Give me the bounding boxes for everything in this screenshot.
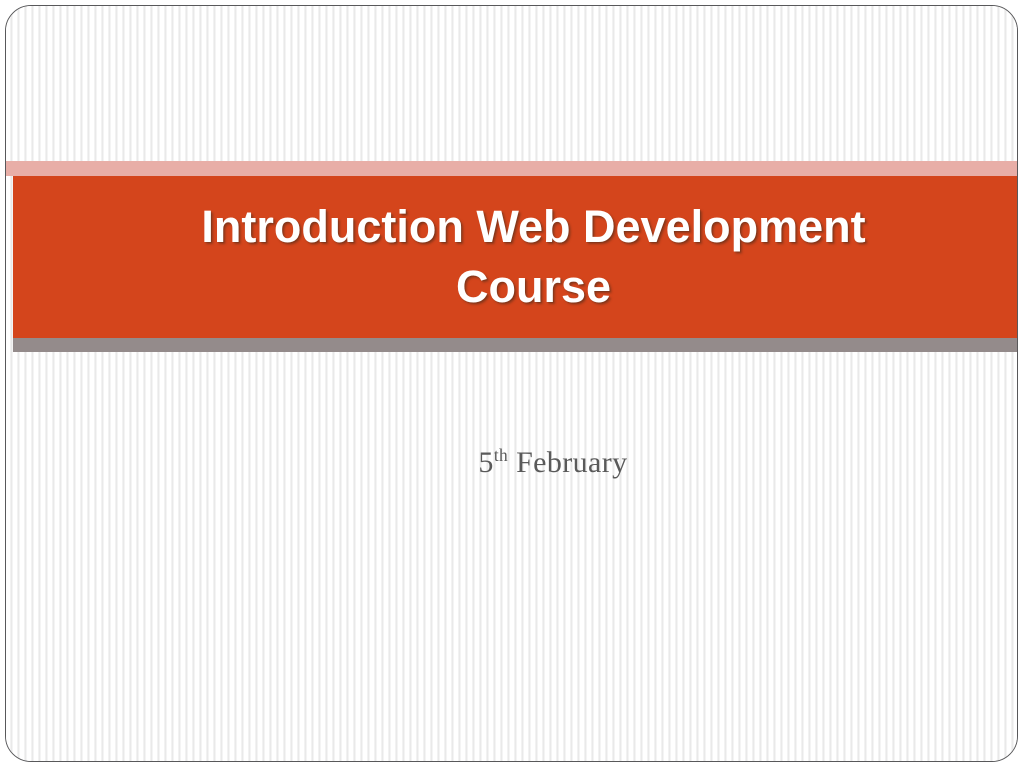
banner-bottom-accent-bar <box>13 338 1018 352</box>
banner-orange-block: Introduction Web Development Course <box>13 176 1018 338</box>
subtitle-container: 5th February <box>6 446 1018 480</box>
slide-canvas: Introduction Web Development Course 5th … <box>5 5 1018 762</box>
banner-top-accent-bar <box>6 161 1018 176</box>
pinstripe-background-texture <box>6 6 1017 761</box>
slide-title: Introduction Web Development Course <box>99 197 939 317</box>
subtitle-ordinal-suffix: th <box>494 445 508 465</box>
subtitle-day-number: 5 <box>478 446 493 479</box>
slide-subtitle-date: 5th February <box>402 446 627 480</box>
presentation-slide: Introduction Web Development Course 5th … <box>0 0 1024 768</box>
subtitle-month: February <box>516 446 628 479</box>
